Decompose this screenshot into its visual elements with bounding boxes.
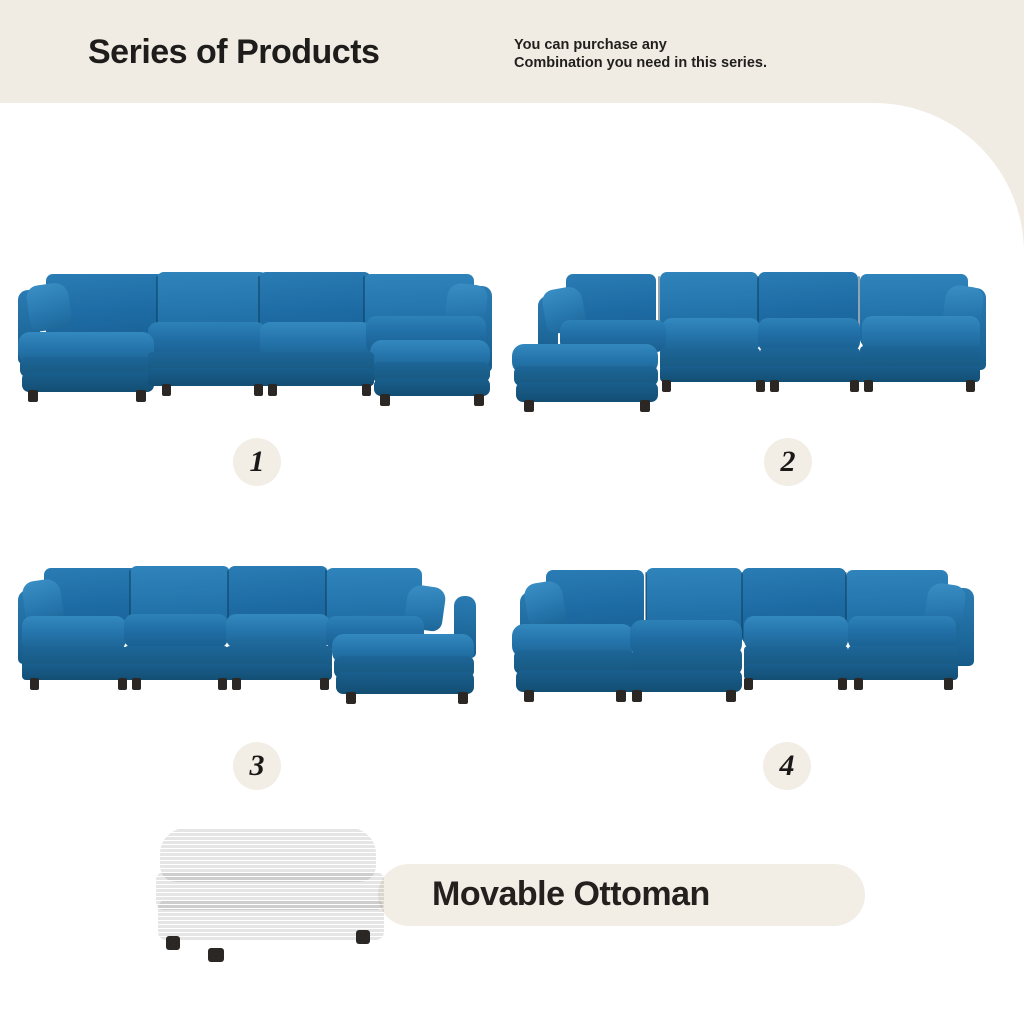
configuration-2[interactable]: 2 bbox=[510, 262, 990, 412]
configuration-1[interactable]: 1 bbox=[14, 262, 494, 412]
header: Series of Products You can purchase any … bbox=[0, 0, 1024, 103]
movable-ottoman-label: Movable Ottoman bbox=[432, 875, 710, 914]
l-shaped-left-chaise-sectional-image bbox=[510, 262, 990, 412]
configuration-4-badge: 4 bbox=[763, 742, 811, 790]
configuration-4[interactable]: 4 bbox=[510, 562, 990, 722]
movable-ottoman-image bbox=[152, 826, 402, 956]
header-subtitle: You can purchase any Combination you nee… bbox=[514, 36, 767, 72]
configuration-3[interactable]: 3 bbox=[14, 562, 494, 722]
page-title: Series of Products bbox=[88, 33, 379, 72]
configuration-3-badge: 3 bbox=[233, 742, 281, 790]
configuration-2-badge: 2 bbox=[764, 438, 812, 486]
infographic-page: Series of Products You can purchase any … bbox=[0, 0, 1024, 1024]
u-shaped-double-chaise-sectional-image bbox=[14, 262, 494, 412]
l-shaped-right-chaise-sectional-image bbox=[14, 562, 494, 722]
configuration-1-badge: 1 bbox=[233, 438, 281, 486]
wide-daybed-chaise-sectional-image bbox=[510, 562, 990, 722]
